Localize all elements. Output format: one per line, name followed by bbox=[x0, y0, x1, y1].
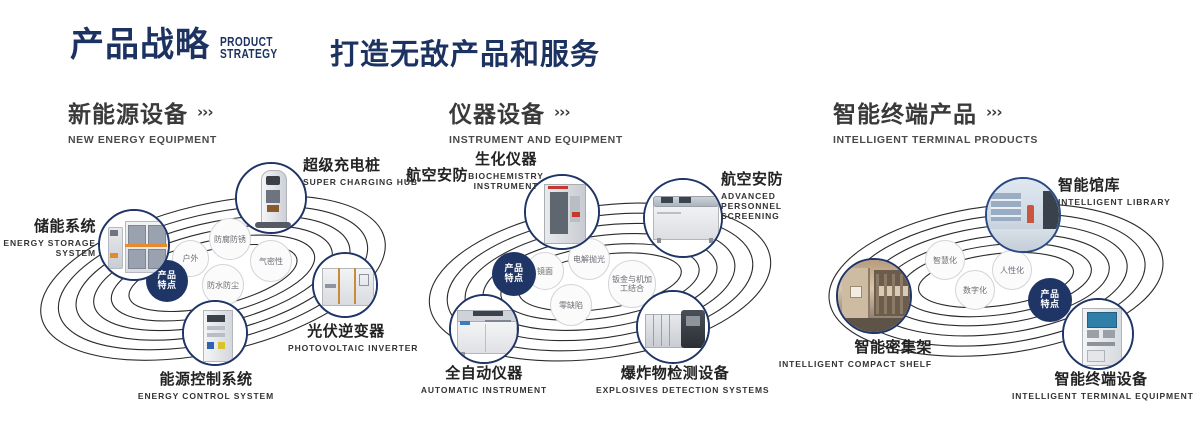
page-subtitle: 打造无敌产品和服务 bbox=[330, 31, 600, 73]
node-energy-storage-system[interactable] bbox=[98, 209, 170, 281]
label-energy-storage-system: 储能系统 ENERGY STORAGE SYSTEM bbox=[0, 215, 96, 258]
node-label-en: AUTOMATIC INSTRUMENT bbox=[409, 385, 559, 395]
section-title-cn-text: 仪器设备 bbox=[449, 95, 545, 129]
node-label-cn: 全自动仪器 bbox=[409, 362, 559, 383]
node-intelligent-compact-shelf[interactable] bbox=[836, 258, 912, 334]
control-cabinet-photo bbox=[184, 302, 246, 364]
core-badge-product-features: 产品 特点 bbox=[492, 252, 536, 296]
label-photovoltaic-inverter: 光伏逆变器 PHOTOVOLTAIC INVERTER bbox=[288, 320, 404, 353]
feature-bubble: 数字化 bbox=[955, 270, 995, 310]
section-title-cn-text: 智能终端产品 bbox=[833, 95, 977, 129]
feature-bubble: 零缺陷 bbox=[550, 284, 592, 326]
feature-label: 电解抛光 bbox=[573, 255, 605, 264]
node-label-cn: 能源控制系统 bbox=[86, 368, 326, 389]
node-photovoltaic-inverter[interactable] bbox=[312, 252, 378, 318]
section-title-en: INSTRUMENT AND EQUIPMENT bbox=[449, 134, 623, 146]
node-label-en: INTELLIGENT COMPACT SHELF bbox=[772, 359, 932, 369]
inverter-cabinet-photo bbox=[314, 254, 376, 316]
feature-label: 气密性 bbox=[259, 257, 283, 266]
smart-library-photo bbox=[987, 179, 1059, 251]
section-title-cn-text: 新能源设备 bbox=[68, 95, 188, 129]
node-label-cn: 爆炸物检测设备 bbox=[596, 362, 754, 383]
core-badge-line2: 特点 bbox=[504, 274, 523, 284]
compact-shelf-photo bbox=[838, 260, 910, 332]
section-title-intelligent: 智能终端产品 ››› INTELLIGENT TERMINAL PRODUCTS bbox=[833, 95, 1038, 146]
node-intelligent-library[interactable] bbox=[985, 177, 1061, 253]
label-aviation-security: 航空安防 bbox=[406, 164, 468, 185]
core-badge-line1: 产品 bbox=[1040, 290, 1059, 300]
section-title-cn: 新能源设备 ››› bbox=[68, 95, 217, 129]
label-intelligent-terminal-equipment: 智能终端设备 INTELLIGENT TERMINAL EQUIPMENT bbox=[1012, 368, 1190, 401]
node-label-en: ENERGY CONTROL SYSTEM bbox=[86, 391, 326, 401]
section-title-en: NEW ENERGY EQUIPMENT bbox=[68, 134, 217, 146]
poster-canvas: 产品战略 PRODUCT STRATEGY 打造无敌产品和服务 新能源设备 ››… bbox=[0, 0, 1200, 422]
feature-label: 数字化 bbox=[963, 286, 987, 295]
page-title-en: PRODUCT STRATEGY bbox=[220, 36, 314, 60]
label-energy-control-system: 能源控制系统 ENERGY CONTROL SYSTEM bbox=[86, 368, 326, 401]
self-service-kiosk-photo bbox=[1064, 300, 1132, 368]
core-badge-line2: 特点 bbox=[157, 281, 176, 291]
section-title-new-energy: 新能源设备 ››› NEW ENERGY EQUIPMENT bbox=[68, 95, 217, 146]
node-label-cn: 储能系统 bbox=[0, 215, 96, 236]
node-label-en: EXPLOSIVES DETECTION SYSTEMS bbox=[596, 385, 754, 395]
label-intelligent-library: 智能馆库 INTELLIGENT LIBRARY bbox=[1058, 174, 1171, 207]
feature-label: 防腐防锈 bbox=[214, 235, 246, 244]
node-label-cn: 智能馆库 bbox=[1058, 174, 1171, 195]
label-explosives-detection-system: 爆炸物检测设备 EXPLOSIVES DETECTION SYSTEMS bbox=[596, 362, 754, 395]
feature-label: 防水防尘 bbox=[207, 281, 239, 290]
node-label-en: ENERGY STORAGE SYSTEM bbox=[0, 238, 96, 258]
feature-label: 户外 bbox=[183, 254, 199, 263]
node-label-cn: 航空安防 bbox=[721, 168, 805, 189]
chevron-right-icon: ››› bbox=[197, 103, 213, 121]
section-title-cn: 智能终端产品 ››› bbox=[833, 95, 1038, 129]
node-label-cn: 航空安防 bbox=[406, 164, 468, 185]
node-label-cn: 智能密集架 bbox=[772, 336, 932, 357]
feature-bubble: 气密性 bbox=[250, 240, 292, 282]
feature-label: 零缺陷 bbox=[559, 301, 583, 310]
feature-label: 智慧化 bbox=[933, 256, 957, 265]
node-label-en: INTELLIGENT LIBRARY bbox=[1058, 197, 1171, 207]
diagram-group-new-energy: 户外 防腐防锈 防水防尘 气密性 产品 特点 bbox=[0, 150, 420, 422]
feature-label: 钣金与机加工结合 bbox=[609, 275, 655, 293]
feature-label: 镜面 bbox=[537, 267, 553, 276]
node-advanced-personnel-screening[interactable] bbox=[643, 178, 723, 258]
label-automatic-instrument: 全自动仪器 AUTOMATIC INSTRUMENT bbox=[409, 362, 559, 395]
chevron-right-icon: ››› bbox=[554, 103, 570, 121]
diagram-group-intelligent: 智慧化 人性化 数字化 产品 特点 bbox=[800, 150, 1200, 422]
node-energy-control-system[interactable] bbox=[182, 300, 248, 366]
page-title-block: 产品战略 PRODUCT STRATEGY bbox=[70, 28, 340, 62]
page-title-en-line2: STRATEGY bbox=[220, 48, 314, 60]
node-label-cn: 光伏逆变器 bbox=[288, 320, 404, 341]
battery-cabinet-photo bbox=[100, 211, 168, 279]
node-label-en: PHOTOVOLTAIC INVERTER bbox=[288, 343, 404, 353]
node-label-en: ADVANCED PERSONNEL SCREENING bbox=[721, 191, 805, 221]
node-intelligent-terminal-equipment[interactable] bbox=[1062, 298, 1134, 370]
feature-bubble: 人性化 bbox=[992, 250, 1032, 290]
node-automatic-instrument[interactable] bbox=[449, 294, 519, 364]
node-label-cn: 智能终端设备 bbox=[1012, 368, 1190, 389]
screening-machine-photo bbox=[645, 180, 721, 256]
node-explosives-detection-system[interactable] bbox=[636, 290, 710, 364]
core-badge-line1: 产品 bbox=[504, 264, 523, 274]
core-badge-line2: 特点 bbox=[1040, 300, 1059, 310]
feature-label: 人性化 bbox=[1000, 266, 1024, 275]
automatic-instrument-photo bbox=[451, 296, 517, 362]
section-title-cn: 仪器设备 ››› bbox=[449, 95, 623, 129]
label-advanced-personnel-screening: 航空安防 ADVANCED PERSONNEL SCREENING bbox=[721, 168, 805, 221]
charging-pile-photo bbox=[237, 164, 305, 232]
diagram-group-instrument: 镜面 电解抛光 钣金与机加工结合 零缺陷 产品 特点 bbox=[396, 150, 804, 422]
chevron-right-icon: ››› bbox=[986, 103, 1002, 121]
section-title-instrument: 仪器设备 ››› INSTRUMENT AND EQUIPMENT bbox=[449, 95, 623, 146]
label-intelligent-compact-shelf: 智能密集架 INTELLIGENT COMPACT SHELF bbox=[772, 336, 932, 369]
feature-bubble: 智慧化 bbox=[925, 240, 965, 280]
section-title-en: INTELLIGENT TERMINAL PRODUCTS bbox=[833, 134, 1038, 146]
node-label-en: INTELLIGENT TERMINAL EQUIPMENT bbox=[1012, 391, 1190, 401]
page-title: 产品战略 bbox=[70, 28, 210, 62]
node-super-charging-hub[interactable] bbox=[235, 162, 307, 234]
explosives-detector-photo bbox=[638, 292, 708, 362]
